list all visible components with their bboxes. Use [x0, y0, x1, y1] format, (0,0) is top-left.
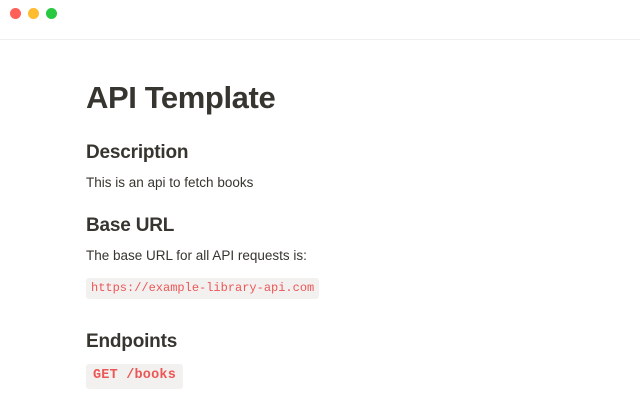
section-heading-base-url: Base URL [86, 215, 580, 237]
window-controls [10, 8, 57, 19]
toolbar-strip [0, 26, 640, 40]
app-window: API Template Description This is an api … [0, 0, 640, 400]
endpoint-code[interactable]: GET /books [86, 364, 183, 389]
section-heading-description: Description [86, 142, 580, 164]
document-content: API Template Description This is an api … [0, 80, 640, 400]
window-titlebar [0, 0, 640, 26]
maximize-window-button[interactable] [46, 8, 57, 19]
section-heading-endpoints: Endpoints [86, 331, 580, 353]
base-url-paragraph: The base URL for all API requests is: [86, 246, 580, 266]
page-title: API Template [86, 80, 580, 116]
section-base-url: Base URL The base URL for all API reques… [86, 215, 580, 309]
close-window-button[interactable] [10, 8, 21, 19]
base-url-code[interactable]: https://example-library-api.com [86, 278, 319, 299]
document-body: API Template Description This is an api … [0, 40, 640, 400]
description-paragraph: This is an api to fetch books [86, 173, 580, 193]
minimize-window-button[interactable] [28, 8, 39, 19]
section-description: Description This is an api to fetch book… [86, 142, 580, 193]
section-endpoints: Endpoints GET /books Returns a list of a… [86, 331, 580, 400]
